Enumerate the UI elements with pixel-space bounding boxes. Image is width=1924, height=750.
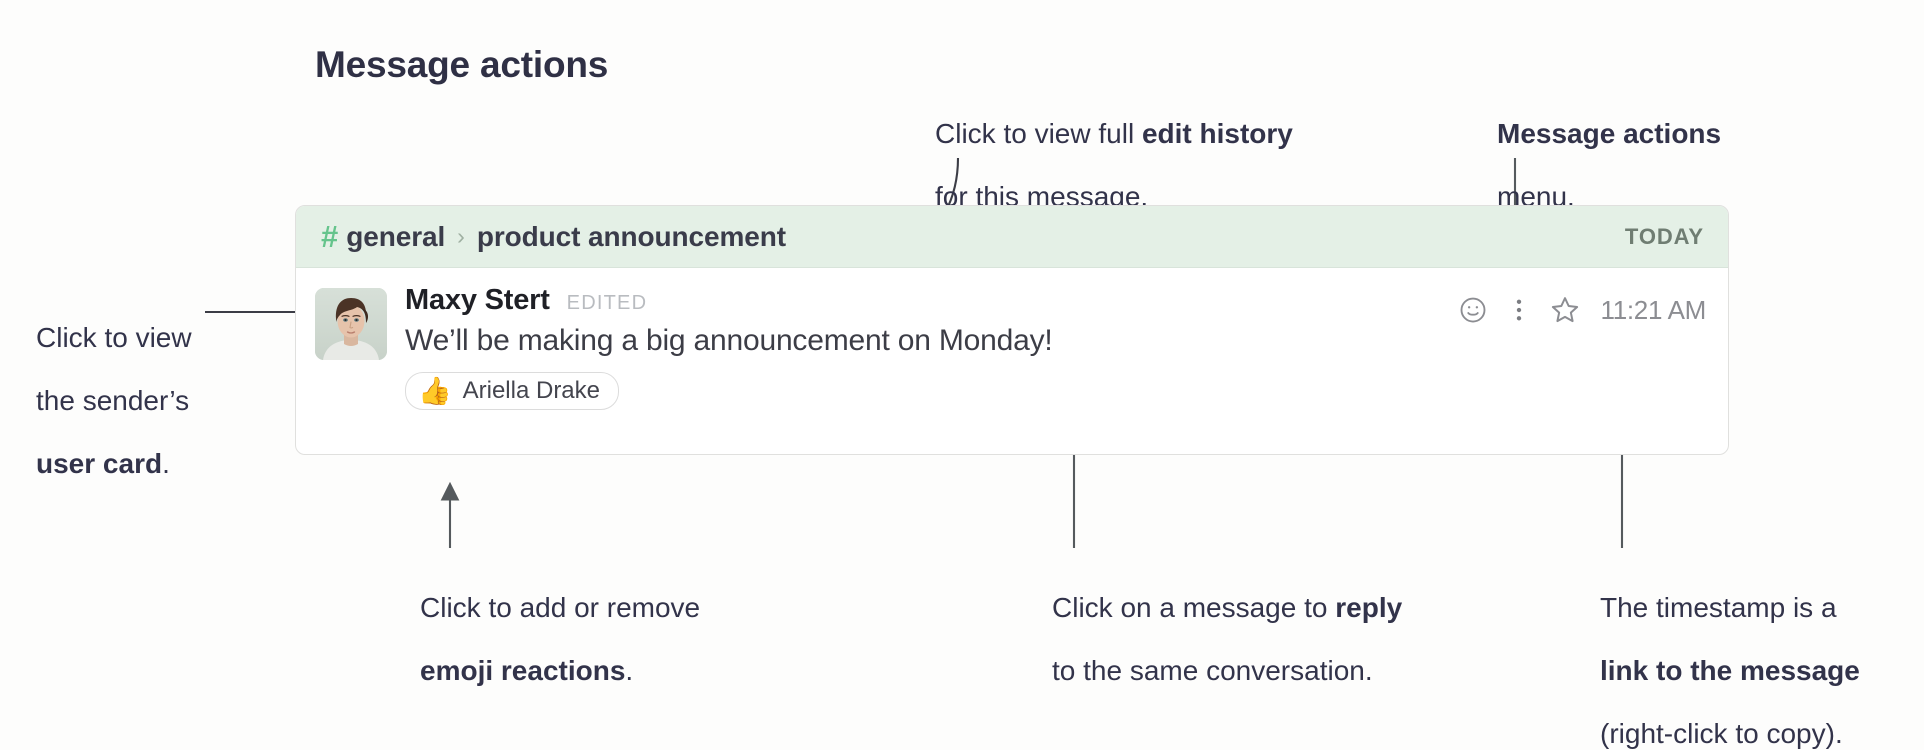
- thumbs-up-icon: 👍: [418, 378, 452, 405]
- star-icon[interactable]: [1542, 290, 1588, 330]
- annotation-line: the sender’s: [36, 385, 189, 416]
- annotation-line: .: [625, 655, 633, 686]
- reaction-pill[interactable]: 👍 Ariella Drake: [405, 372, 619, 410]
- message-actions-bar: 11:21 AM: [1450, 290, 1706, 330]
- date-label: TODAY: [1625, 224, 1704, 250]
- annotation-emoji-reactions: Click to add or remove emoji reactions.: [420, 560, 700, 687]
- annotation-edit-history: Click to view full edit history for this…: [935, 86, 1293, 213]
- annotation-line: .: [162, 448, 170, 479]
- message-actions-menu-icon[interactable]: [1496, 290, 1542, 330]
- card-header: # general › product announcement TODAY: [296, 206, 1728, 268]
- reaction-row: 👍 Ariella Drake: [405, 372, 1704, 410]
- annotation-timestamp: The timestamp is a link to the message (…: [1600, 560, 1860, 750]
- avatar-photo: [315, 288, 387, 360]
- reaction-label: Ariella Drake: [463, 377, 600, 405]
- hash-icon: #: [321, 221, 337, 252]
- message-timestamp[interactable]: 11:21 AM: [1600, 295, 1706, 326]
- annotation-line: (right-click to copy).: [1600, 718, 1843, 749]
- chevron-right-icon: ›: [457, 223, 465, 250]
- page-title: Message actions: [315, 44, 608, 86]
- annotation-user-card: Click to view the sender’s user card.: [36, 290, 192, 480]
- annotation-actions-menu: Message actions menu.: [1497, 86, 1721, 213]
- annotation-line: to the same conversation.: [1052, 655, 1373, 686]
- message-row[interactable]: Maxy Stert EDITED We’ll be making a big …: [296, 268, 1728, 410]
- annotation-emphasis: user card: [36, 448, 162, 479]
- breadcrumb-stream[interactable]: general: [346, 221, 445, 253]
- annotation-line: Click to view: [36, 322, 192, 353]
- annotation-line: Click to add or remove: [420, 592, 700, 623]
- annotation-emphasis: Message actions: [1497, 118, 1721, 149]
- annotation-line: Click to view full: [935, 118, 1142, 149]
- annotation-line: The timestamp is a: [1600, 592, 1837, 623]
- sender-name[interactable]: Maxy Stert: [405, 284, 550, 317]
- breadcrumb-topic[interactable]: product announcement: [477, 221, 786, 253]
- edited-badge[interactable]: EDITED: [567, 292, 648, 315]
- annotation-emphasis: emoji reactions: [420, 655, 625, 686]
- annotation-line: Click on a message to: [1052, 592, 1335, 623]
- emoji-reaction-icon[interactable]: [1450, 290, 1496, 330]
- annotation-emphasis: reply: [1335, 592, 1402, 623]
- annotation-reply: Click on a message to reply to the same …: [1052, 560, 1402, 687]
- message-card: # general › product announcement TODAY: [295, 205, 1729, 455]
- annotation-emphasis: edit history: [1142, 118, 1293, 149]
- annotation-emphasis: link to the message: [1600, 655, 1860, 686]
- avatar[interactable]: [315, 288, 387, 360]
